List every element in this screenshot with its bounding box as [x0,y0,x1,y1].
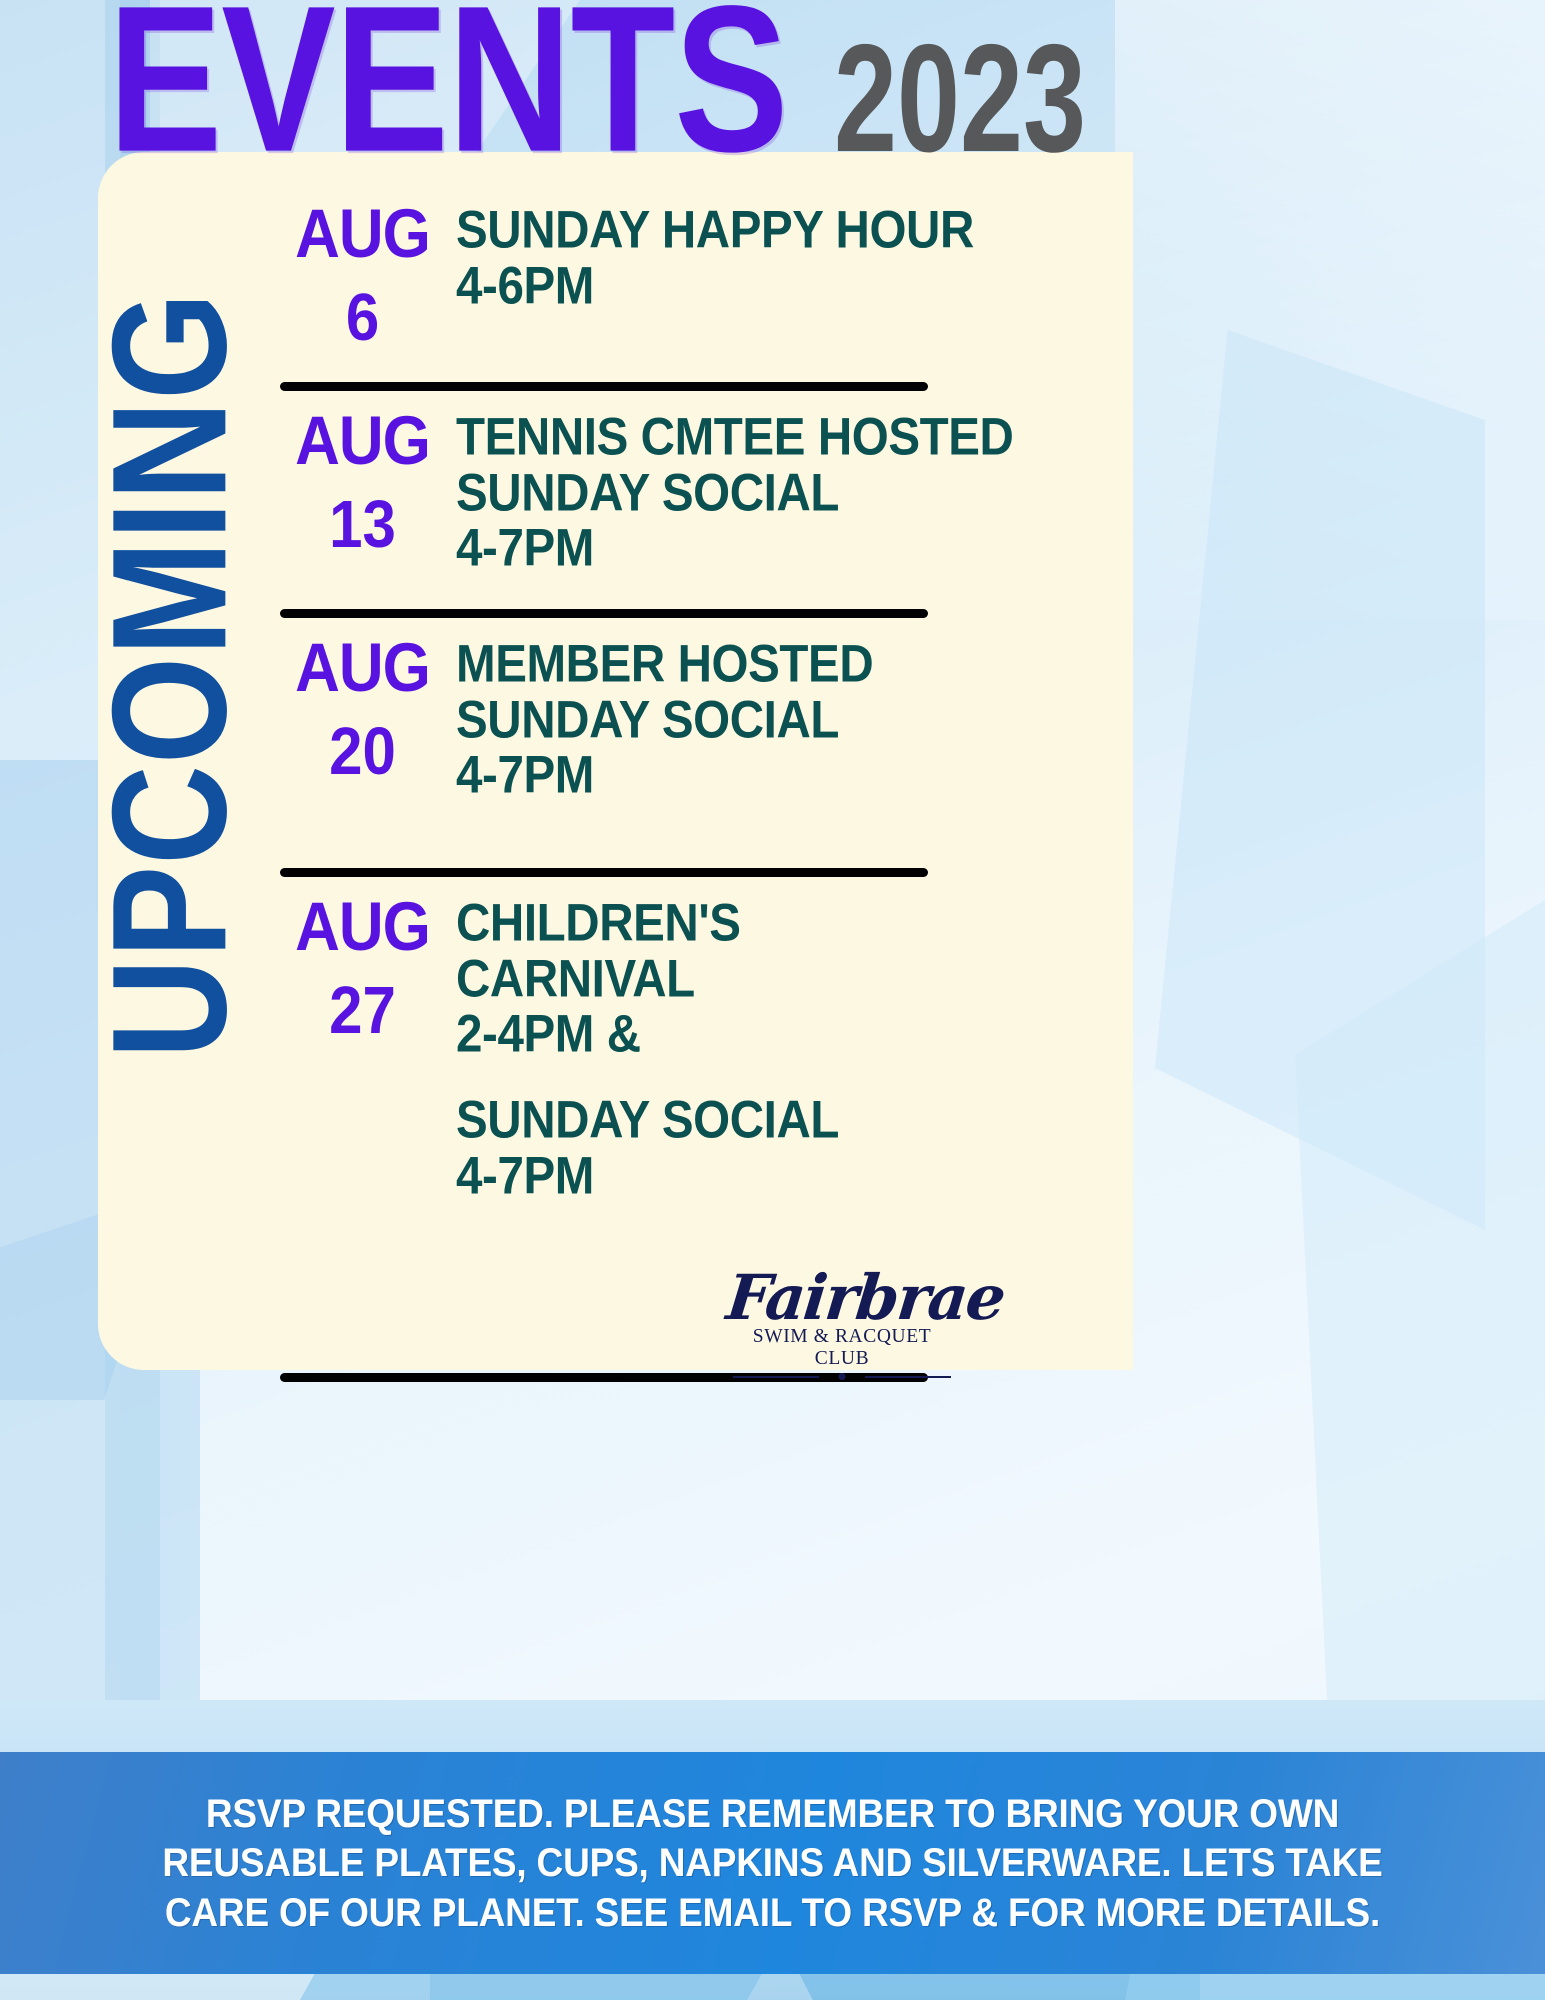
footer-line-3: CARE OF OUR PLANET. SEE EMAIL TO RSVP & … [165,1886,1380,1940]
event-title-cont: CARNIVAL [456,949,970,1010]
event-secondary-time: 4-7PM [456,1146,970,1207]
event-info: CHILDREN'S CARNIVAL 2-4PM & SUNDAY SOCIA… [450,889,975,1201]
event-day: 6 [275,284,450,351]
footer-line-1: RSVP REQUESTED. PLEASE REMEMBER TO BRING… [206,1787,1339,1841]
event-month: AUG [275,202,450,267]
event-month: AUG [275,895,450,960]
event-month: AUG [275,409,450,474]
event-info: TENNIS CMTEE HOSTED SUNDAY SOCIAL 4-7PM [450,403,1019,574]
logo-rule [727,1373,957,1381]
logo-wordmark: Fairbrae [724,1269,960,1328]
event-date: AUG 27 [275,889,450,1037]
event-row[interactable]: AUG 13 TENNIS CMTEE HOSTED SUNDAY SOCIAL… [275,403,975,599]
page-title: EVENTS 2023 [108,22,1097,173]
events-list: AUG 6 SUNDAY HAPPY HOUR 4-6PM AUG 13 TEN… [275,196,975,1394]
footer-line-2: REUSABLE PLATES, CUPS, NAPKINS AND SILVE… [162,1836,1382,1890]
event-row[interactable]: AUG 6 SUNDAY HAPPY HOUR 4-6PM [275,196,975,372]
title-events: EVENTS [108,0,787,173]
event-row[interactable]: AUG 20 MEMBER HOSTED SUNDAY SOCIAL 4-7PM [275,630,975,858]
event-time: 4-7PM [456,518,1013,579]
footer-banner: RSVP REQUESTED. PLEASE REMEMBER TO BRING… [0,1752,1545,1974]
logo-dot-icon [839,1373,846,1380]
event-day: 13 [275,491,450,558]
event-title: TENNIS CMTEE HOSTED [456,407,1013,468]
title-year: 2023 [834,30,1086,168]
event-divider [280,609,928,618]
event-secondary-title: SUNDAY SOCIAL [456,1090,970,1151]
event-title: MEMBER HOSTED [456,634,970,695]
event-title: SUNDAY HAPPY HOUR [456,200,974,261]
event-title-cont: SUNDAY SOCIAL [456,690,970,751]
event-day: 27 [275,977,450,1044]
vertical-label-container: UPCOMING [90,175,250,1175]
event-time: 2-4PM & [456,1004,970,1065]
event-day: 20 [275,718,450,785]
event-time: 4-7PM [456,745,970,806]
event-title-cont: SUNDAY SOCIAL [456,463,1013,524]
event-info: SUNDAY HAPPY HOUR 4-6PM [450,196,979,311]
event-month: AUG [275,636,450,701]
event-title: CHILDREN'S [456,893,970,954]
event-date: AUG 13 [275,403,450,551]
event-date: AUG 20 [275,630,450,778]
vertical-label-upcoming: UPCOMING [76,292,264,1059]
event-divider [280,868,928,877]
fairbrae-logo: Fairbrae SWIM & RACQUET CLUB [727,1269,957,1381]
event-row[interactable]: AUG 27 CHILDREN'S CARNIVAL 2-4PM & SUNDA… [275,889,975,1249]
event-info: MEMBER HOSTED SUNDAY SOCIAL 4-7PM [450,630,975,801]
event-date: AUG 6 [275,196,450,344]
event-time: 4-6PM [456,256,974,317]
event-divider [280,382,928,391]
